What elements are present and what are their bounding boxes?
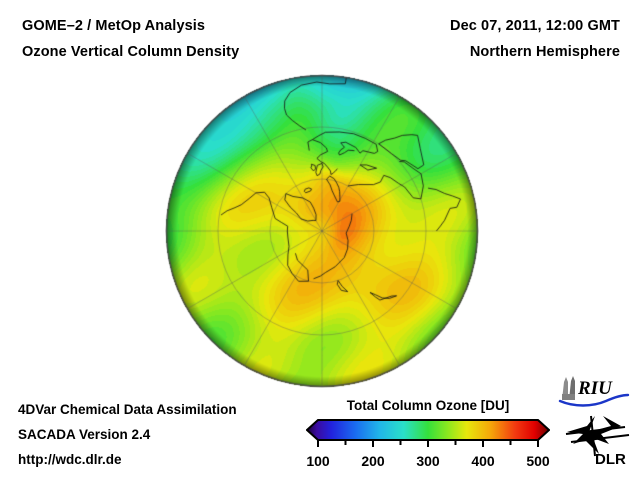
version-label: SACADA Version 2.4 (18, 427, 150, 442)
colorbar-title: Total Column Ozone [DU] (306, 398, 550, 413)
dlr-mark-icon (566, 416, 629, 456)
method-label: 4DVar Chemical Data Assimilation (18, 402, 237, 417)
riu-wordmark: RIU (577, 378, 613, 399)
globe-canvas (165, 74, 479, 388)
dlr-wordmark: DLR (595, 451, 626, 466)
cathedral-towers-icon (562, 376, 575, 400)
colorbar-gradient-bar (307, 420, 549, 440)
colorbar: Total Column Ozone [DU] 100200300400500 (306, 398, 550, 474)
svg-text:200: 200 (361, 453, 385, 469)
colorbar-tick-marks (318, 440, 538, 447)
colorbar-tick-labels: 100200300400500 (306, 453, 550, 469)
product-title: Ozone Vertical Column Density (22, 44, 239, 60)
svg-text:300: 300 (416, 453, 440, 469)
wdc-url-label: http://wdc.dlr.de (18, 452, 122, 467)
svg-text:500: 500 (526, 453, 550, 469)
svg-text:100: 100 (306, 453, 330, 469)
dlr-logo: DLR (565, 414, 631, 466)
ozone-globe-map (165, 74, 479, 388)
colorbar-svg: 100200300400500 (306, 418, 550, 470)
riu-logo: RIU (558, 374, 630, 408)
instrument-title: GOME–2 / MetOp Analysis (22, 18, 205, 34)
svg-text:400: 400 (471, 453, 495, 469)
datetime-label: Dec 07, 2011, 12:00 GMT (450, 18, 620, 34)
region-label: Northern Hemisphere (470, 44, 620, 60)
